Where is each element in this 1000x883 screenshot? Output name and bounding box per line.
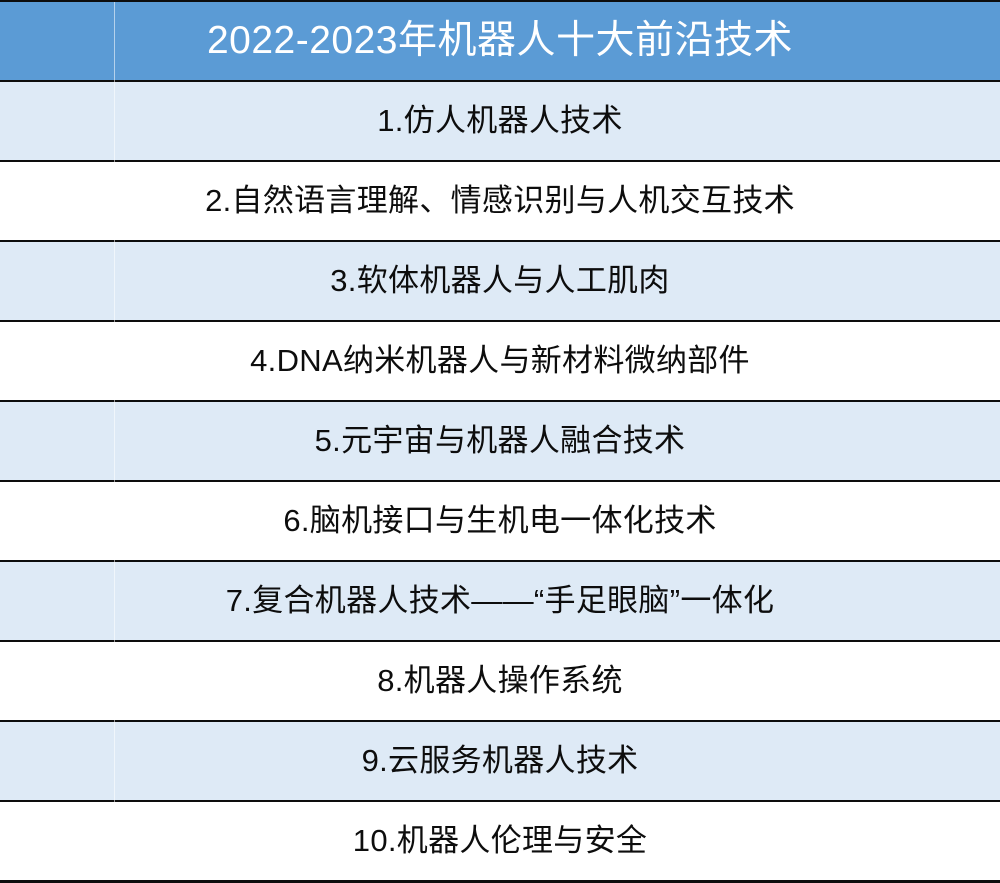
table-row: 2.自然语言理解、情感识别与人机交互技术 — [0, 161, 1000, 241]
technology-item-2: 2.自然语言理解、情感识别与人机交互技术 — [0, 161, 1000, 241]
table-header-row: 2022-2023年机器人十大前沿技术 — [0, 1, 1000, 81]
table-body: 1.仿人机器人技术2.自然语言理解、情感识别与人机交互技术3.软体机器人与人工肌… — [0, 81, 1000, 881]
table-header: 2022-2023年机器人十大前沿技术 — [0, 1, 1000, 81]
top-ten-robotics-technologies-table: 2022-2023年机器人十大前沿技术 1.仿人机器人技术2.自然语言理解、情感… — [0, 0, 1000, 883]
technology-item-9: 9.云服务机器人技术 — [0, 721, 1000, 801]
technology-item-4: 4.DNA纳米机器人与新材料微纳部件 — [0, 321, 1000, 401]
table-title-cell: 2022-2023年机器人十大前沿技术 — [0, 1, 1000, 81]
table-row: 7.复合机器人技术——“手足眼脑”一体化 — [0, 561, 1000, 641]
table-row: 3.软体机器人与人工肌肉 — [0, 241, 1000, 321]
table-row: 10.机器人伦理与安全 — [0, 801, 1000, 881]
table-row: 8.机器人操作系统 — [0, 641, 1000, 721]
technology-item-10: 10.机器人伦理与安全 — [0, 801, 1000, 881]
technology-item-1: 1.仿人机器人技术 — [0, 81, 1000, 161]
technology-item-6: 6.脑机接口与生机电一体化技术 — [0, 481, 1000, 561]
table-row: 1.仿人机器人技术 — [0, 81, 1000, 161]
technology-item-7: 7.复合机器人技术——“手足眼脑”一体化 — [0, 561, 1000, 641]
tech-table-container: 2022-2023年机器人十大前沿技术 1.仿人机器人技术2.自然语言理解、情感… — [0, 0, 1000, 860]
table-row: 5.元宇宙与机器人融合技术 — [0, 401, 1000, 481]
table-row: 4.DNA纳米机器人与新材料微纳部件 — [0, 321, 1000, 401]
table-row: 9.云服务机器人技术 — [0, 721, 1000, 801]
technology-item-3: 3.软体机器人与人工肌肉 — [0, 241, 1000, 321]
technology-item-5: 5.元宇宙与机器人融合技术 — [0, 401, 1000, 481]
technology-item-8: 8.机器人操作系统 — [0, 641, 1000, 721]
table-row: 6.脑机接口与生机电一体化技术 — [0, 481, 1000, 561]
